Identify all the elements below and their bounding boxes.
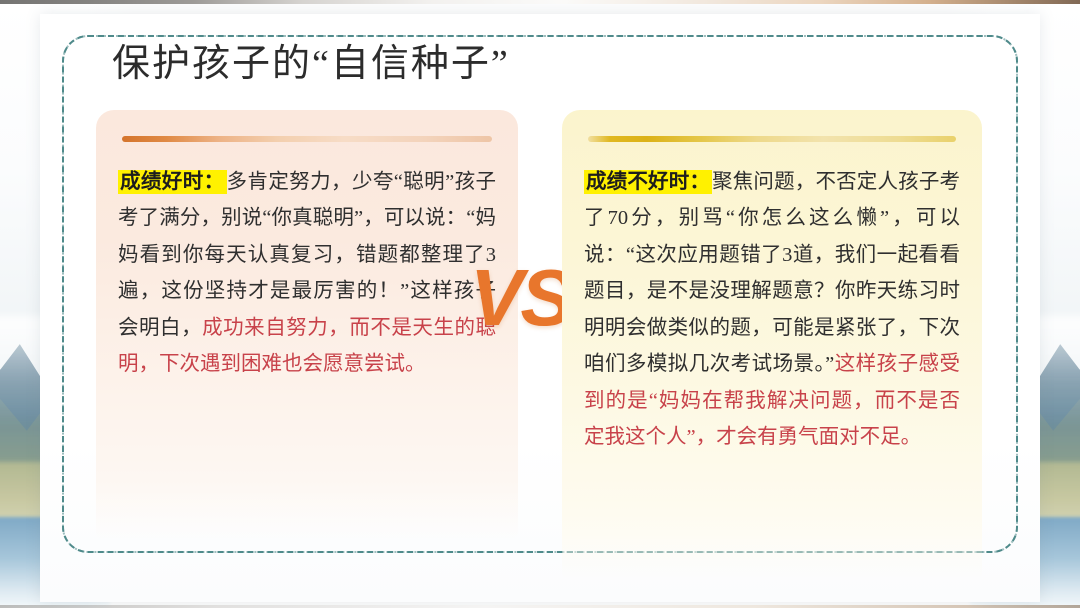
card-right-label: 成绩不好时： <box>584 170 712 194</box>
vs-badge: VS <box>470 258 571 338</box>
card-body-right: 成绩不好时：聚焦问题，不否定人孩子考了70分，别骂“你怎么这么懒”，可以说：“这… <box>584 164 960 456</box>
top-edge-strip <box>0 0 1080 4</box>
card-left-text-plain: 多肯定努力，少夸“聪明”孩子考了满分，别说“你真聪明”，可以说：“妈妈看到你每天… <box>118 171 496 339</box>
card-right-text-plain: 聚焦问题，不否定人孩子考了70分，别骂“你怎么这么懒”，可以说：“这次应用题错了… <box>584 171 960 375</box>
card-accent-bar-left <box>122 136 492 142</box>
card-accent-bar-right <box>588 136 956 142</box>
card-body-left: 成绩好时：多肯定努力，少夸“聪明”孩子考了满分，别说“你真聪明”，可以说：“妈妈… <box>118 164 496 383</box>
comparison-card-good-grades: 成绩好时：多肯定努力，少夸“聪明”孩子考了满分，别说“你真聪明”，可以说：“妈妈… <box>96 110 518 540</box>
page-title: 保护孩子的“自信种子” <box>112 32 510 87</box>
comparison-card-bad-grades: 成绩不好时：聚焦问题，不否定人孩子考了70分，别骂“你怎么这么懒”，可以说：“这… <box>562 110 982 580</box>
card-left-label: 成绩好时： <box>118 170 227 194</box>
slide-stage: 保护孩子的“自信种子” 成绩好时：多肯定努力，少夸“聪明”孩子考了满分，别说“你… <box>0 0 1080 608</box>
